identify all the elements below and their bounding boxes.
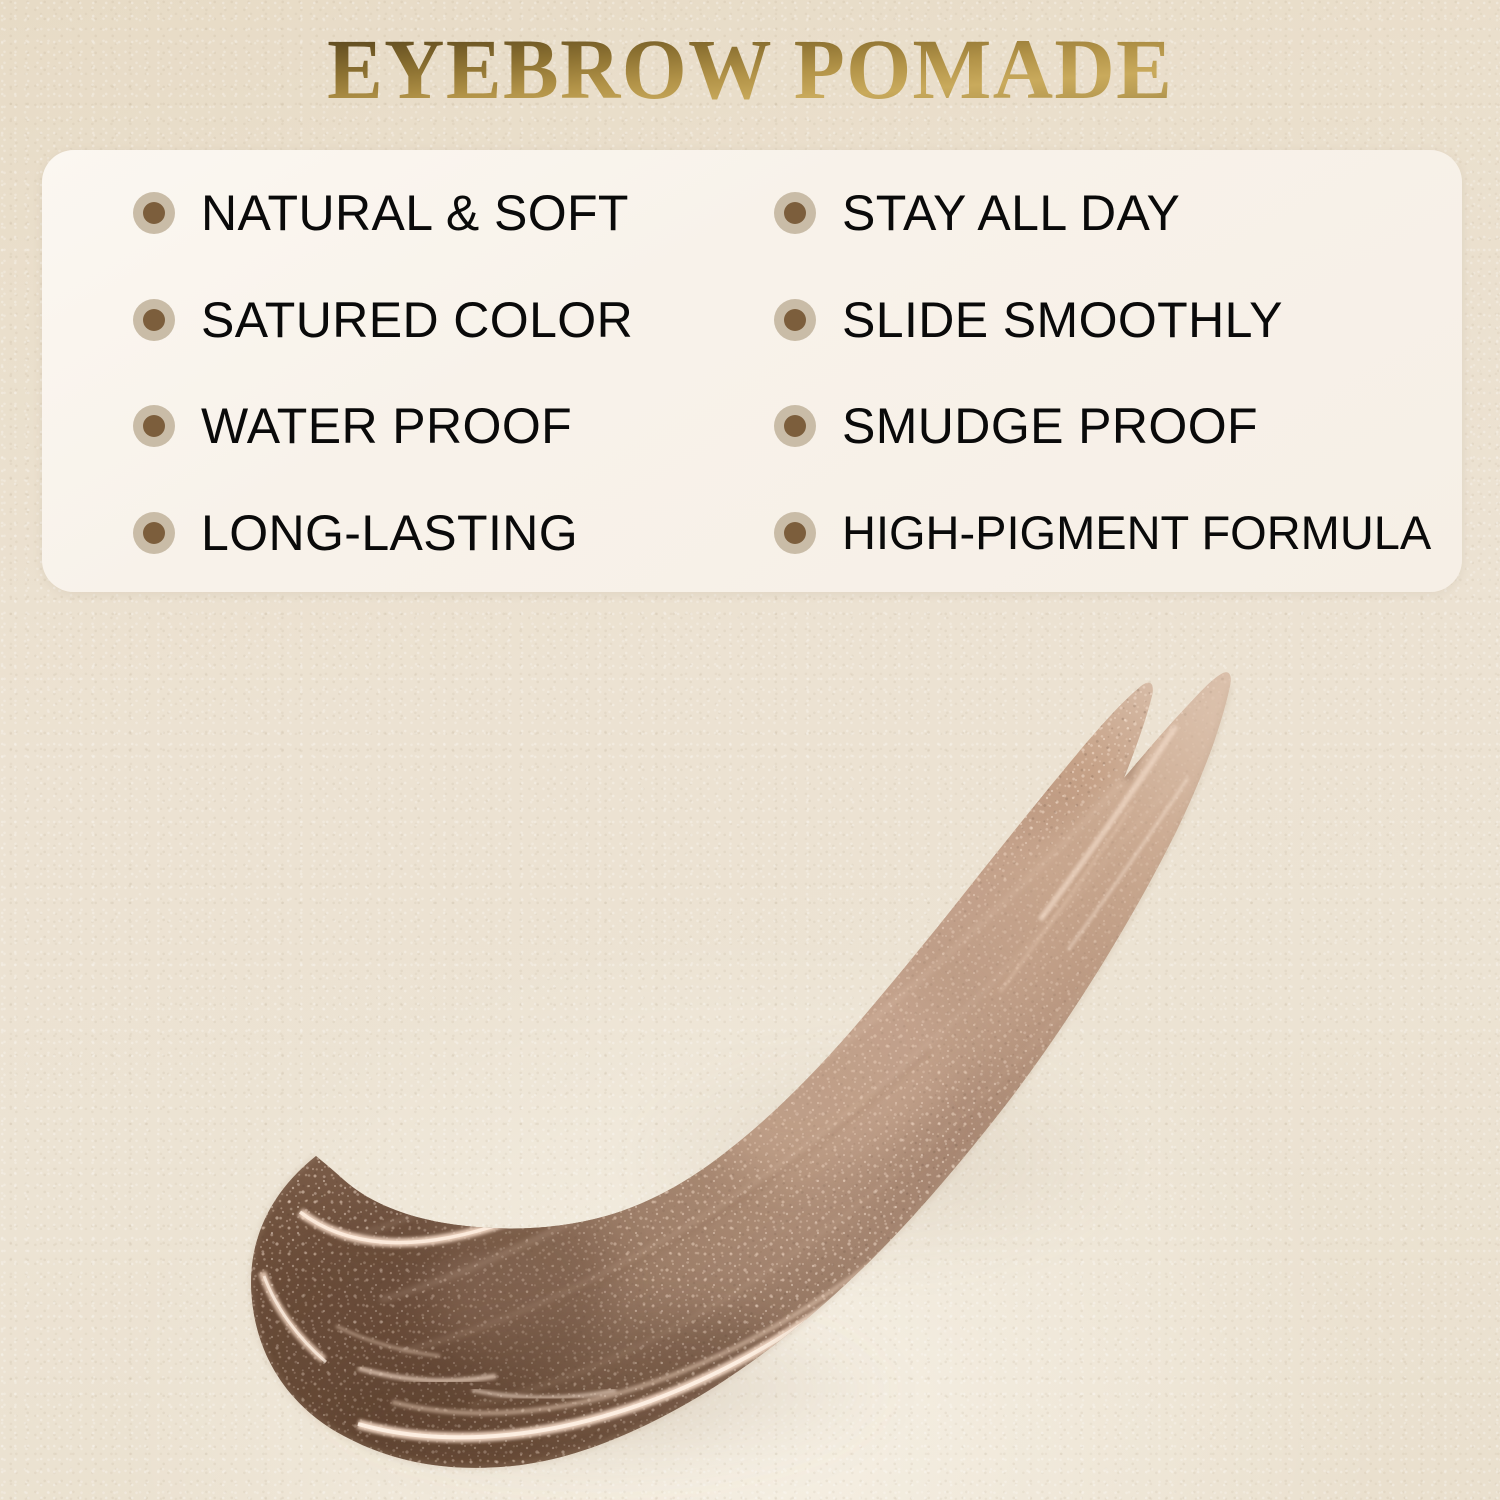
feature-label: STAY ALL DAY — [842, 188, 1180, 238]
bullet-dot-icon — [774, 192, 816, 234]
bullet-dot-icon — [774, 512, 816, 554]
bullet-dot-icon — [774, 405, 816, 447]
feature-item-slide-smoothly: SLIDE SMOOTHLY — [752, 295, 1462, 345]
page-title: EYEBROW POMADE — [327, 26, 1173, 112]
feature-label: WATER PROOF — [201, 401, 572, 451]
pomade-swatch-icon — [0, 600, 1500, 1500]
feature-item-high-pigment-formula: HIGH-PIGMENT FORMULA — [752, 509, 1462, 556]
feature-highlights-card: NATURAL & SOFT STAY ALL DAY SATURED COLO… — [42, 150, 1462, 592]
bullet-dot-icon — [133, 512, 175, 554]
feature-grid: NATURAL & SOFT STAY ALL DAY SATURED COLO… — [42, 150, 1462, 592]
feature-item-satured-color: SATURED COLOR — [42, 295, 752, 345]
feature-item-natural-soft: NATURAL & SOFT — [42, 188, 752, 238]
bullet-dot-icon — [133, 192, 175, 234]
feature-label: SATURED COLOR — [201, 295, 633, 345]
bullet-dot-icon — [133, 299, 175, 341]
feature-item-stay-all-day: STAY ALL DAY — [752, 188, 1462, 238]
feature-label: HIGH-PIGMENT FORMULA — [842, 509, 1431, 556]
product-swatch-stage — [0, 600, 1500, 1500]
feature-label: NATURAL & SOFT — [201, 188, 629, 238]
feature-item-water-proof: WATER PROOF — [42, 401, 752, 451]
feature-item-smudge-proof: SMUDGE PROOF — [752, 401, 1462, 451]
title-container: EYEBROW POMADE — [0, 26, 1500, 112]
feature-label: SMUDGE PROOF — [842, 401, 1258, 451]
feature-label: LONG-LASTING — [201, 508, 578, 558]
bullet-dot-icon — [133, 405, 175, 447]
feature-item-long-lasting: LONG-LASTING — [42, 508, 752, 558]
feature-label: SLIDE SMOOTHLY — [842, 295, 1283, 345]
bullet-dot-icon — [774, 299, 816, 341]
